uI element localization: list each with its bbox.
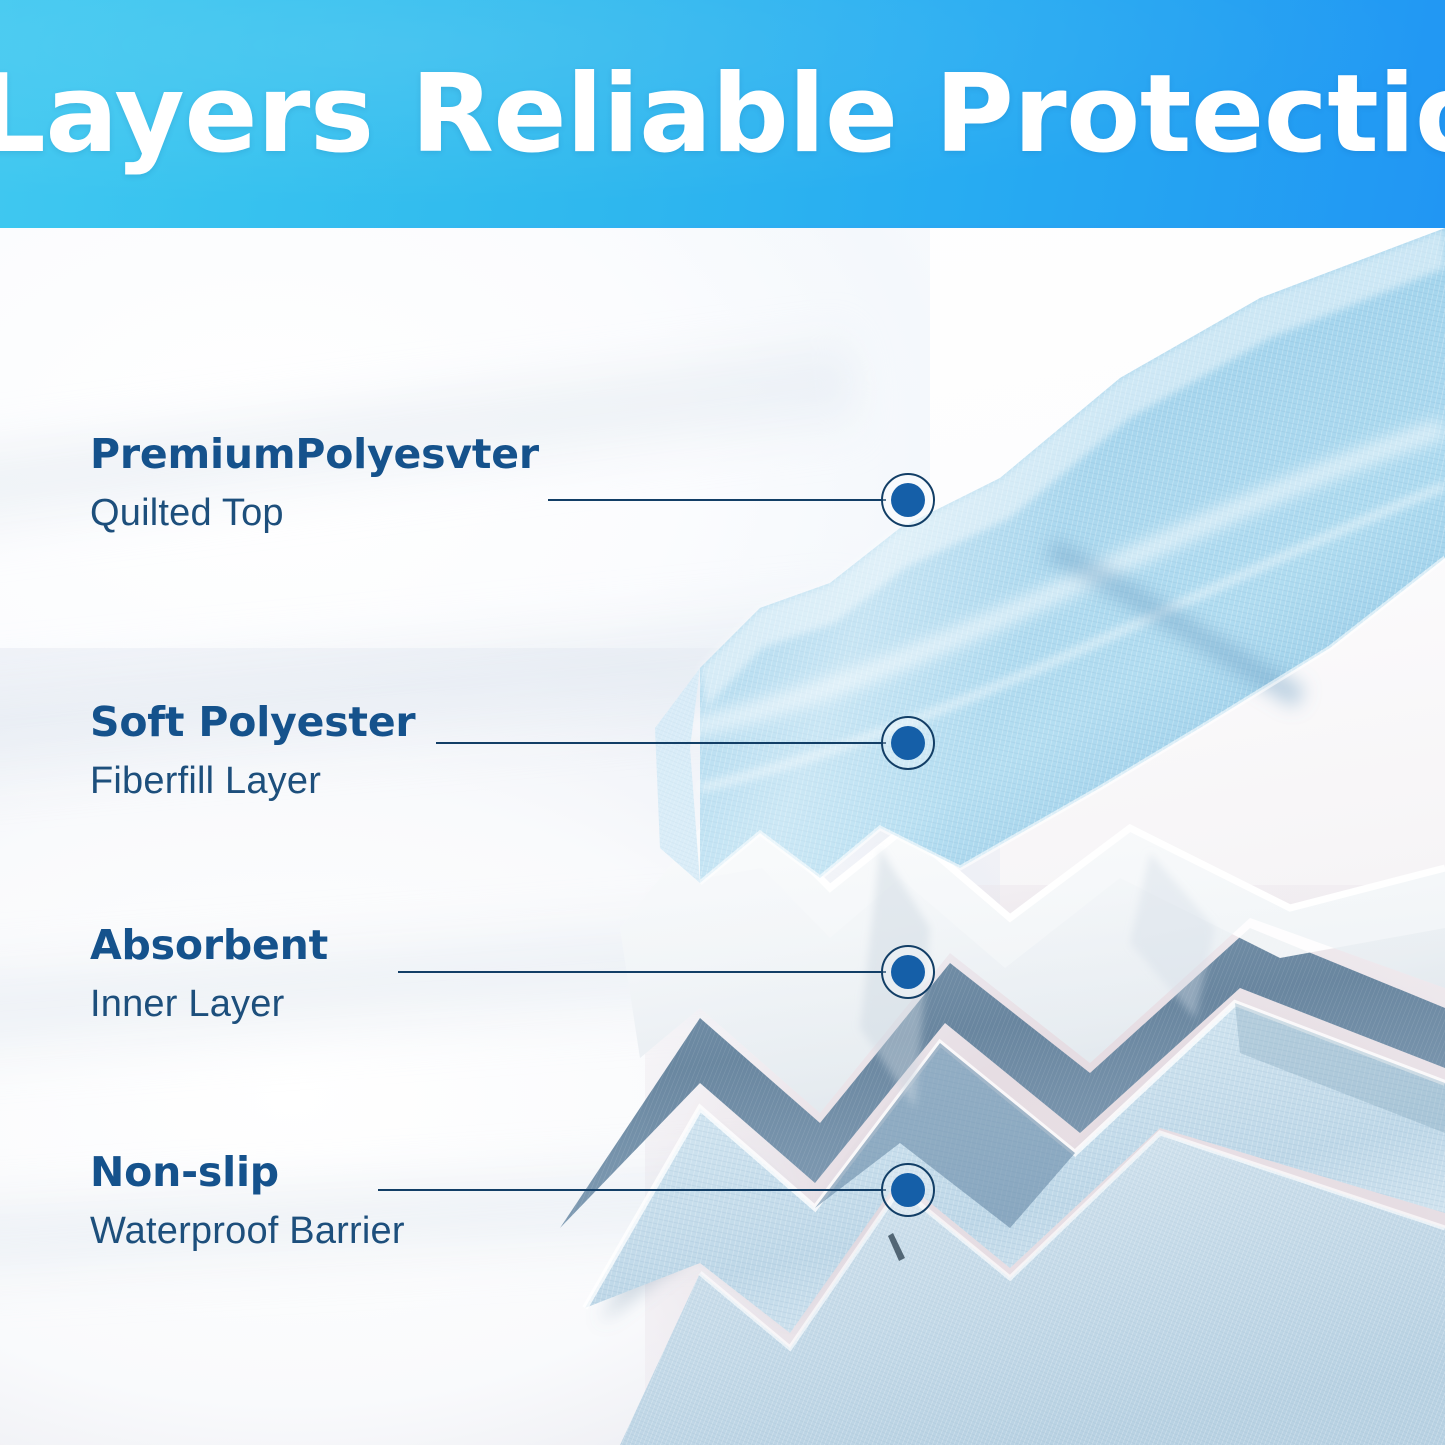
marker-dot xyxy=(891,483,925,517)
callout-subtitle-layer-3: Inner Layer xyxy=(90,983,328,1026)
banner-title-text: Layers Reliable Protection xyxy=(0,52,1445,177)
product-infographic: 4 Layers Reliable Protection xyxy=(0,0,1445,1445)
marker-layer-1[interactable] xyxy=(881,473,935,527)
callout-layer-2: Soft Polyester Fiberfill Layer xyxy=(90,698,415,803)
marker-layer-3[interactable] xyxy=(881,945,935,999)
callout-subtitle-layer-1: Quilted Top xyxy=(90,492,539,535)
fabric-layer-quilted-top xyxy=(655,228,1445,883)
leader-line-layer-4 xyxy=(378,1189,886,1191)
marker-dot xyxy=(891,955,925,989)
fabric-photo-stage xyxy=(0,228,1445,1445)
banner-title: 4 Layers Reliable Protection xyxy=(0,0,1445,228)
callout-layer-4: Non-slip Waterproof Barrier xyxy=(90,1148,405,1253)
fabric-layers-illustration xyxy=(0,228,1445,1445)
callout-title-layer-2: Soft Polyester xyxy=(90,698,415,746)
marker-dot xyxy=(891,1173,925,1207)
callout-subtitle-layer-4: Waterproof Barrier xyxy=(90,1210,405,1253)
callout-title-layer-1: PremiumPolyesvter xyxy=(90,430,539,478)
callout-title-layer-4: Non-slip xyxy=(90,1148,405,1196)
callout-subtitle-layer-2: Fiberfill Layer xyxy=(90,760,415,803)
header-banner: 4 Layers Reliable Protection xyxy=(0,0,1445,228)
callout-layer-1: PremiumPolyesvter Quilted Top xyxy=(90,430,539,535)
leader-line-layer-2 xyxy=(436,742,886,744)
marker-layer-2[interactable] xyxy=(881,716,935,770)
leader-line-layer-3 xyxy=(398,971,886,973)
callout-layer-3: Absorbent Inner Layer xyxy=(90,921,328,1026)
marker-layer-4[interactable] xyxy=(881,1163,935,1217)
leader-line-layer-1 xyxy=(548,499,886,501)
marker-dot xyxy=(891,726,925,760)
callout-title-layer-3: Absorbent xyxy=(90,921,328,969)
